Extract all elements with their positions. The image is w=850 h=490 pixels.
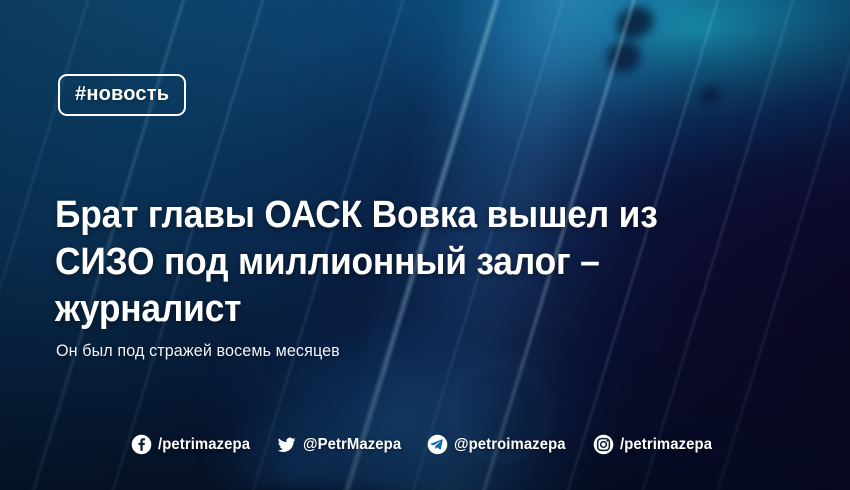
card-content: #новость Брат главы ОАСК Вовка вышел из … [0, 0, 850, 490]
social-links-bar: /petrimazepa @PetrMazepa [0, 434, 850, 455]
telegram-icon [427, 434, 448, 455]
news-card: #новость Брат главы ОАСК Вовка вышел из … [0, 0, 850, 490]
page-title: Брат главы ОАСК Вовка вышел из СИЗО под … [55, 192, 706, 333]
category-badge[interactable]: #новость [58, 74, 186, 116]
social-link-telegram[interactable]: @petroimazepa [427, 434, 574, 455]
social-link-facebook[interactable]: /petrimazepa [131, 434, 257, 455]
subtitle: Он был под стражей восемь месяцев [56, 340, 340, 362]
social-handle-twitter: @PetrMazepa [303, 436, 401, 454]
social-link-instagram[interactable]: /petrimazepa [593, 434, 719, 455]
social-handle-facebook: /petrimazepa [158, 436, 250, 454]
social-handle-instagram: /petrimazepa [620, 436, 712, 454]
social-handle-telegram: @petroimazepa [454, 436, 566, 454]
twitter-icon [276, 434, 297, 455]
instagram-icon [593, 434, 614, 455]
facebook-icon [131, 434, 152, 455]
social-link-twitter[interactable]: @PetrMazepa [276, 434, 409, 455]
